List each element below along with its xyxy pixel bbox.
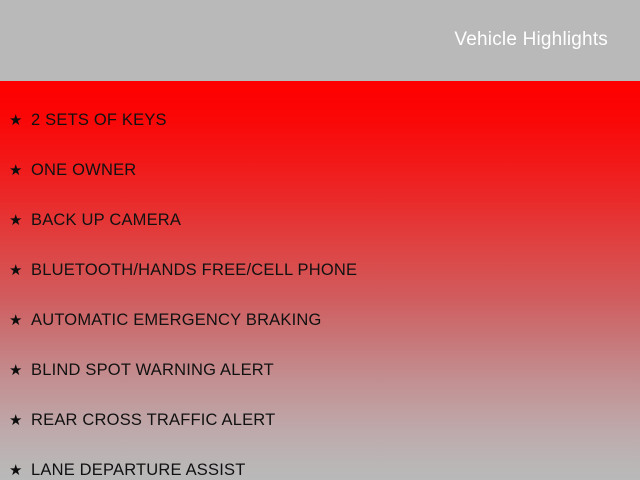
highlight-label: 2 SETS OF KEYS — [31, 110, 167, 130]
header-band: Vehicle Highlights — [0, 0, 640, 81]
highlight-label: AUTOMATIC EMERGENCY BRAKING — [31, 310, 322, 330]
star-bullet-icon: ★ — [9, 163, 31, 178]
list-item: ★ 2 SETS OF KEYS — [0, 95, 640, 145]
highlight-label: REAR CROSS TRAFFIC ALERT — [31, 410, 275, 430]
list-item: ★ REAR CROSS TRAFFIC ALERT — [0, 395, 640, 445]
star-bullet-icon: ★ — [9, 263, 31, 278]
star-bullet-icon: ★ — [9, 463, 31, 478]
star-bullet-icon: ★ — [9, 363, 31, 378]
highlights-list: ★ 2 SETS OF KEYS ★ ONE OWNER ★ BACK UP C… — [0, 81, 640, 480]
highlights-panel: ★ 2 SETS OF KEYS ★ ONE OWNER ★ BACK UP C… — [0, 81, 640, 480]
star-bullet-icon: ★ — [9, 313, 31, 328]
highlight-label: BLIND SPOT WARNING ALERT — [31, 360, 274, 380]
highlight-label: BLUETOOTH/HANDS FREE/CELL PHONE — [31, 260, 357, 280]
highlight-label: BACK UP CAMERA — [31, 210, 181, 230]
page-title: Vehicle Highlights — [454, 28, 608, 52]
list-item: ★ BLIND SPOT WARNING ALERT — [0, 345, 640, 395]
star-bullet-icon: ★ — [9, 413, 31, 428]
list-item: ★ BLUETOOTH/HANDS FREE/CELL PHONE — [0, 245, 640, 295]
highlight-label: ONE OWNER — [31, 160, 136, 180]
list-item: ★ BACK UP CAMERA — [0, 195, 640, 245]
star-bullet-icon: ★ — [9, 113, 31, 128]
vehicle-highlights-slide: Vehicle Highlights ★ 2 SETS OF KEYS ★ ON… — [0, 0, 640, 480]
star-bullet-icon: ★ — [9, 213, 31, 228]
highlight-label: LANE DEPARTURE ASSIST — [31, 460, 246, 480]
list-item: ★ LANE DEPARTURE ASSIST — [0, 445, 640, 480]
list-item: ★ AUTOMATIC EMERGENCY BRAKING — [0, 295, 640, 345]
list-item: ★ ONE OWNER — [0, 145, 640, 195]
